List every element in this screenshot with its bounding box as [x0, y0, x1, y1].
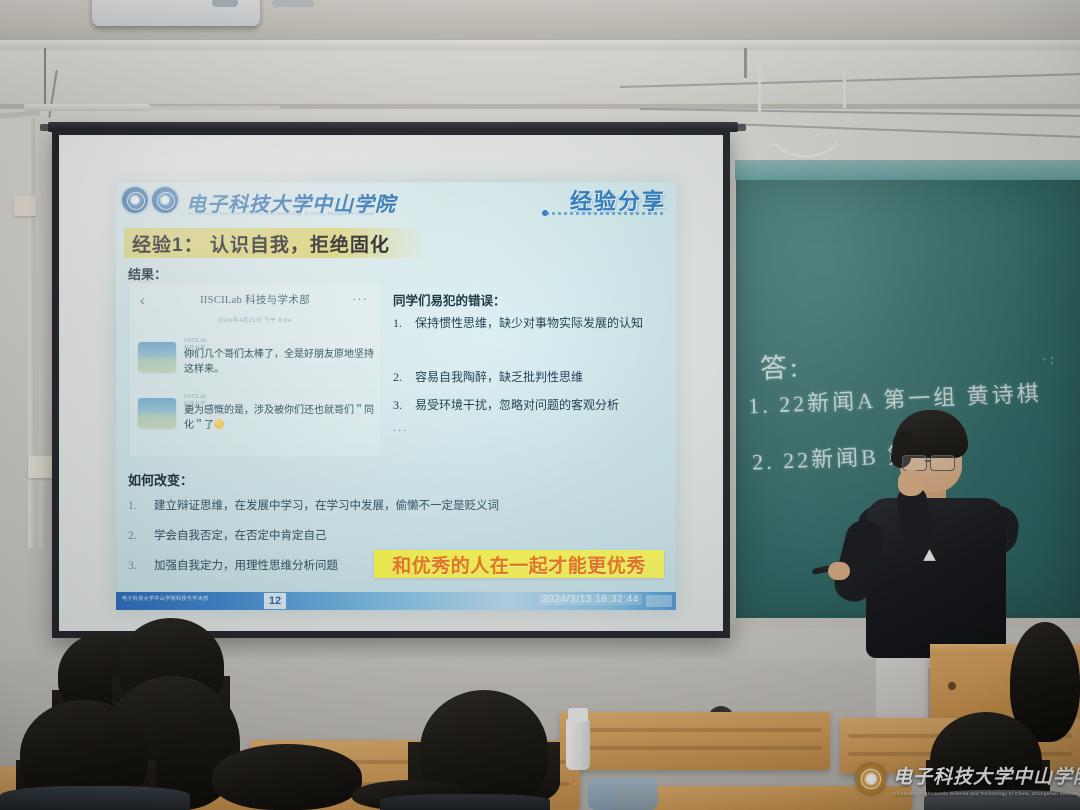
badge-dotted-rule	[546, 212, 666, 215]
wechat-message-text-body: 更为感慨的是，涉及被你们还也就哥们＂同化＂了	[184, 405, 374, 431]
presenter-hand-raised	[898, 470, 924, 496]
glasses-bridge	[925, 460, 931, 462]
presenter-hand-left	[828, 562, 850, 580]
slide-university-name-en: University of Electronic Science and Tec…	[188, 211, 375, 216]
projector-vent	[272, 0, 314, 7]
presenter-sweatshirt	[866, 498, 1006, 658]
slide-page-number: 12	[264, 593, 286, 609]
grin-emoji-icon	[214, 419, 224, 429]
list-number: 2.	[128, 528, 154, 545]
wall-conduit	[38, 118, 43, 548]
landscape-thumbnail	[138, 398, 176, 428]
list-number: 1.	[393, 314, 415, 332]
list-text: 加强自我定力，用理性思维分析问题	[154, 560, 338, 572]
slide-footer-org: 电子科技大学中山学院科技与学术部	[122, 595, 208, 602]
glasses-icon	[902, 455, 927, 471]
student-shoulders	[0, 786, 190, 810]
lectern-knob	[948, 682, 956, 690]
ellipsis-icon: ···	[352, 291, 368, 306]
hanging-cord-loop	[760, 66, 852, 158]
wechat-screenshot-panel: ‹ IISCILab 科技与学术部 ··· 2024年4月21日 下午 8:04…	[130, 284, 380, 456]
change-item: 3.加强自我定力，用理性思维分析问题	[128, 558, 338, 575]
mistake-item: 2.容易自我陶醉，缺乏批判性思维	[393, 368, 673, 386]
watermark-name-en: University of Electronic Science and Tec…	[893, 791, 1080, 796]
mistake-item: 3.易受环境干扰，忽略对问题的客观分析	[393, 396, 673, 414]
ceiling-hook	[744, 48, 747, 78]
blackboard-frame	[730, 180, 736, 625]
mistakes-more-indicator: ...	[393, 422, 408, 434]
university-seal-icon	[122, 187, 148, 213]
list-number: 2.	[393, 368, 415, 386]
classroom-photo: 答: 1. 22新闻A 第一组 黄诗棋 2. 22新闻B 第二组 ·: 电子科技…	[0, 0, 1080, 810]
list-text: 保持惯性思维，缺少对事物实际发展的认知	[415, 316, 643, 330]
slide-footer-cap	[646, 595, 672, 607]
slide-title: 经验1： 认识自我，拒绝固化	[124, 230, 390, 257]
watermark: 电子科技大学中山学院 University of Electronic Scie…	[856, 756, 1072, 802]
wechat-account-name: IISCILab 科技与学术部	[130, 292, 380, 307]
mistakes-heading: 同学们易犯的错误：	[393, 290, 506, 309]
list-number: 1.	[128, 498, 154, 515]
ceiling-projector	[92, 0, 260, 26]
student-head	[212, 744, 362, 810]
blackboard-heading: 答:	[759, 345, 801, 386]
wechat-timestamp: 2024年4月21日 下午 8:04	[130, 316, 380, 324]
watermark-name-cn: 电子科技大学中山学院	[893, 762, 1080, 789]
wall-switch-plate[interactable]	[14, 196, 36, 216]
bench-slat	[568, 746, 822, 750]
list-text: 学会自我否定，在否定中肯定自己	[154, 530, 327, 542]
student-denim-jacket	[588, 778, 658, 810]
ceiling-batten	[24, 104, 150, 111]
list-text: 容易自我陶醉，缺乏批判性思维	[415, 370, 583, 384]
bench-desk	[560, 712, 830, 770]
watermark-text: 电子科技大学中山学院 University of Electronic Scie…	[893, 762, 1080, 796]
glasses-icon	[930, 455, 955, 471]
presentation-slide: 电子科技大学中山学院 University of Electronic Scie…	[116, 182, 676, 610]
list-text: 建立辩证思维，在发展中学习，在学习中发展，偷懒不一定是贬义词	[154, 500, 499, 512]
wechat-message-text: 更为感慨的是，涉及被你们还也就哥们＂同化＂了	[184, 403, 374, 433]
hanging-cord	[843, 66, 846, 108]
change-item: 2.学会自我否定，在否定中肯定自己	[128, 528, 327, 545]
label-how-to-change: 如何改变：	[128, 470, 193, 489]
list-text: 易受环境干扰，忽略对问题的客观分析	[415, 398, 619, 412]
ceiling-batten-secondary	[150, 106, 280, 110]
mistake-item: 1.保持惯性思维，缺少对事物实际发展的认知	[393, 314, 673, 332]
list-number: 3.	[393, 396, 415, 414]
wall-conduit	[28, 118, 35, 548]
change-item: 1.建立辩证思维，在发展中学习，在学习中发展，偷懒不一定是贬义词	[128, 498, 499, 515]
slide-header: 电子科技大学中山学院 University of Electronic Scie…	[116, 182, 676, 222]
water-bottle	[566, 718, 590, 770]
label-result: 结果：	[128, 264, 167, 283]
slide-title-bar: 经验1： 认识自我，拒绝固化	[124, 228, 424, 258]
landscape-thumbnail	[138, 342, 176, 372]
slide-datetime: 2024/3/13 18:32:44	[539, 594, 642, 605]
wechat-message-text: 你们几个哥们太棒了，全是好朋友原地坚持这样来。	[184, 347, 374, 377]
projector-lens-icon	[212, 0, 238, 7]
institute-seal-icon	[152, 187, 178, 213]
slide-callout-text: 和优秀的人在一起才能更优秀	[392, 551, 646, 578]
bench-slat	[568, 728, 822, 732]
water-bottle-cap	[568, 708, 588, 722]
student-shoulders	[380, 794, 550, 810]
gold-university-seal-icon	[856, 764, 886, 794]
slide-callout-highlight: 和优秀的人在一起才能更优秀	[374, 550, 664, 578]
list-number: 3.	[128, 558, 154, 575]
blackboard-corner-mark: ·:	[1042, 352, 1058, 370]
hanging-chain	[44, 48, 46, 106]
slide-footer-bar: 电子科技大学中山学院科技与学术部 12 2024/3/13 18:32:44	[116, 592, 676, 610]
